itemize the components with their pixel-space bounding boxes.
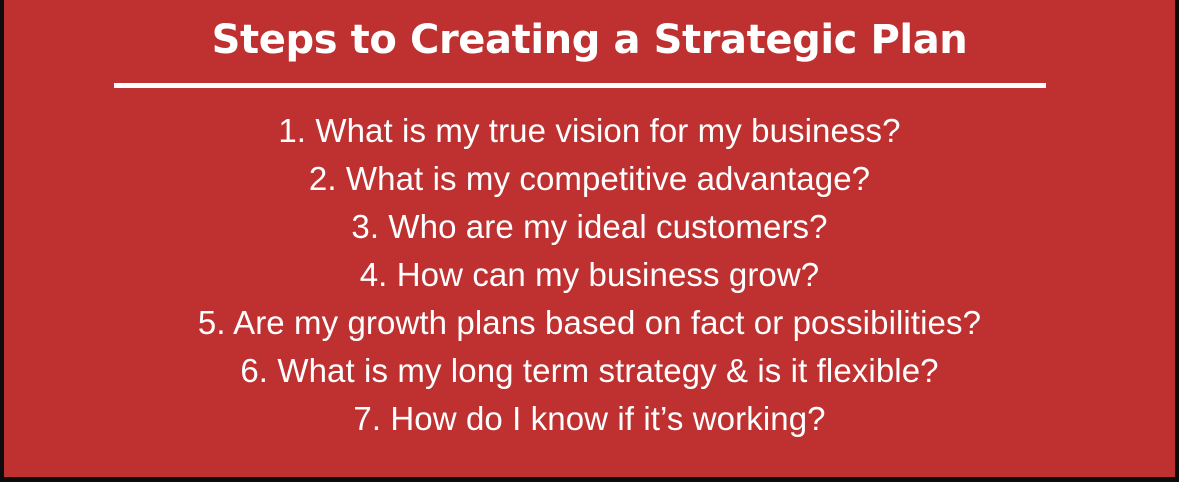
list-item-label: How can my business grow? (397, 256, 820, 293)
list-item: 6. What is my long term strategy & is it… (4, 347, 1175, 395)
list-item-label: Who are my ideal customers? (388, 208, 827, 245)
list-item-number: 5. (198, 304, 233, 341)
list-item: 5. Are my growth plans based on fact or … (4, 299, 1175, 347)
list-item-label: What is my long term strategy & is it fl… (277, 352, 938, 389)
list-item-label: What is my competitive advantage? (346, 160, 870, 197)
list-item-label: What is my true vision for my business? (315, 112, 900, 149)
list-item: 2. What is my competitive advantage? (4, 155, 1175, 203)
list-item: 3. Who are my ideal customers? (4, 203, 1175, 251)
list-item: 4. How can my business grow? (4, 251, 1175, 299)
list-item-number: 6. (240, 352, 277, 389)
list-item-number: 4. (360, 256, 397, 293)
slide-content: Steps to Creating a Strategic Plan 1. Wh… (4, 0, 1175, 477)
title-divider-rule (114, 83, 1046, 88)
strategic-plan-slide: Steps to Creating a Strategic Plan 1. Wh… (0, 0, 1179, 482)
page-title: Steps to Creating a Strategic Plan (4, 16, 1175, 64)
list-item-number: 7. (353, 400, 390, 437)
list-item-label: How do I know if it’s working? (390, 400, 825, 437)
steps-list: 1. What is my true vision for my busines… (4, 107, 1175, 443)
list-item: 1. What is my true vision for my busines… (4, 107, 1175, 155)
list-item: 7. How do I know if it’s working? (4, 395, 1175, 443)
list-item-label: Are my growth plans based on fact or pos… (233, 304, 981, 341)
list-item-number: 3. (351, 208, 388, 245)
list-item-number: 1. (278, 112, 315, 149)
list-item-number: 2. (309, 160, 346, 197)
